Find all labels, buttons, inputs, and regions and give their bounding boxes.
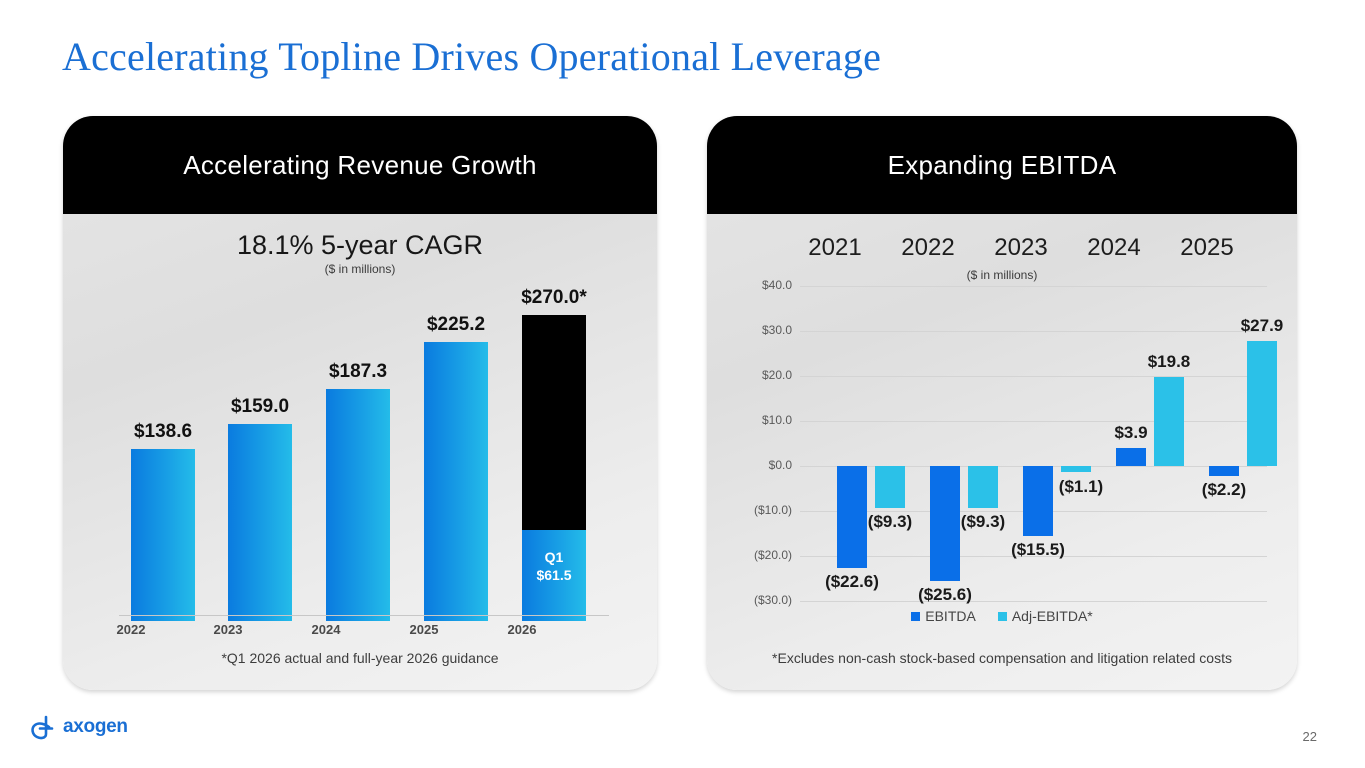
revenue-plot-area: $138.6 $159.0 $187.3 $225.2 Q1 $61.5 [113,286,613,621]
ebitda-chart-card: Expanding EBITDA 2021 2022 2023 2024 202… [707,116,1297,690]
page-title: Accelerating Topline Drives Operational … [62,33,881,80]
revenue-bar-2024 [326,389,390,621]
ebitda-bar-2025 [1209,466,1239,476]
revenue-bar-group-2025: $225.2 [424,286,488,621]
revenue-bar-2026-value: $61.5 [522,566,586,584]
ebitda-ytick-40: $40.0 [712,278,792,292]
revenue-bar-group-2022: $138.6 [131,286,195,621]
adj-ebitda-bar-2022 [968,466,998,508]
revenue-bar-label-2022: $138.6 [88,421,238,443]
adj-ebitda-bar-2023 [1061,466,1091,472]
adj-ebitda-bar-label-2024: $19.8 [1104,352,1234,372]
revenue-bar-group-2026: Q1 $61.5 $270.0* [522,286,586,621]
ebitda-legend: EBITDA Adj-EBITDA* [707,608,1297,624]
legend-label-ebitda: EBITDA [925,608,976,624]
adj-ebitda-bar-label-2023: ($1.1) [1016,477,1146,497]
ebitda-ytick-neg10: ($10.0) [712,503,792,517]
ebitda-ytick-neg30: ($30.0) [712,593,792,607]
ebitda-category-2025: 2025 [1152,234,1262,262]
ebitda-plot-area: $40.0 $30.0 $20.0 $10.0 $0.0 ($10.0) ($2… [800,286,1267,601]
ebitda-gridline-40 [800,286,1267,287]
ebitda-bar-label-2025: ($2.2) [1159,480,1289,500]
revenue-bar-2023 [228,424,292,621]
adj-ebitda-bar-2025 [1247,341,1277,466]
ebitda-card-title: Expanding EBITDA [888,150,1117,181]
revenue-bar-2022 [131,449,195,621]
revenue-chart-card: Accelerating Revenue Growth 18.1% 5-year… [63,116,657,690]
revenue-cagr-text: 18.1% 5-year CAGR [63,230,657,261]
adj-ebitda-bar-label-2025: $27.9 [1197,316,1297,336]
axogen-wordmark: axogen [63,716,128,738]
revenue-card-title: Accelerating Revenue Growth [183,150,537,181]
revenue-bar-2026-actual: Q1 $61.5 [522,530,586,621]
ebitda-footnote: *Excludes non-cash stock-based compensat… [707,650,1297,666]
revenue-card-header: Accelerating Revenue Growth [63,116,657,214]
revenue-bar-label-2024: $187.3 [283,361,433,383]
ebitda-units-label: ($ in millions) [707,268,1297,282]
page-number: 22 [1303,729,1317,744]
axogen-logo: axogen [26,712,128,742]
adj-ebitda-bar-2021 [875,466,905,508]
adj-ebitda-bar-2024 [1154,377,1184,466]
legend-swatch-ebitda-icon [911,612,920,621]
legend-item-ebitda: EBITDA [911,608,976,624]
legend-item-adj-ebitda: Adj-EBITDA* [998,608,1093,624]
ebitda-bar-label-2023: ($15.5) [973,540,1103,560]
ebitda-bar-2024 [1116,448,1146,466]
legend-swatch-adj-ebitda-icon [998,612,1007,621]
revenue-bar-2026-quarter: Q1 [522,548,586,566]
revenue-category-2022: 2022 [76,622,186,637]
revenue-bar-label-2023: $159.0 [185,396,335,418]
legend-label-adj-ebitda: Adj-EBITDA* [1012,608,1093,624]
revenue-bar-label-2026: $270.0* [479,287,629,309]
ebitda-ytick-10: $10.0 [712,413,792,427]
axogen-mark-icon [26,712,56,742]
revenue-bar-group-2024: $187.3 [326,286,390,621]
ebitda-gridline-20 [800,376,1267,377]
revenue-category-2026: 2026 [467,622,577,637]
ebitda-gridline-neg30 [800,601,1267,602]
revenue-units-label: ($ in millions) [63,262,657,276]
ebitda-ytick-30: $30.0 [712,323,792,337]
revenue-category-2023: 2023 [173,622,283,637]
ebitda-bar-label-2022: ($25.6) [880,585,1010,605]
revenue-bar-2025 [424,342,488,621]
revenue-category-2025: 2025 [369,622,479,637]
revenue-bar-2026-guidance [522,315,586,530]
ebitda-ytick-0: $0.0 [712,458,792,472]
ebitda-gridline-10 [800,421,1267,422]
revenue-footnote: *Q1 2026 actual and full-year 2026 guida… [63,650,657,666]
revenue-bar-label-2025: $225.2 [381,314,531,336]
revenue-bar-group-2023: $159.0 [228,286,292,621]
ebitda-ytick-neg20: ($20.0) [712,548,792,562]
revenue-category-2024: 2024 [271,622,381,637]
revenue-bar-2026-inbar-label: Q1 $61.5 [522,548,586,584]
ebitda-ytick-20: $20.0 [712,368,792,382]
revenue-axis-line [119,615,609,616]
ebitda-card-header: Expanding EBITDA [707,116,1297,214]
